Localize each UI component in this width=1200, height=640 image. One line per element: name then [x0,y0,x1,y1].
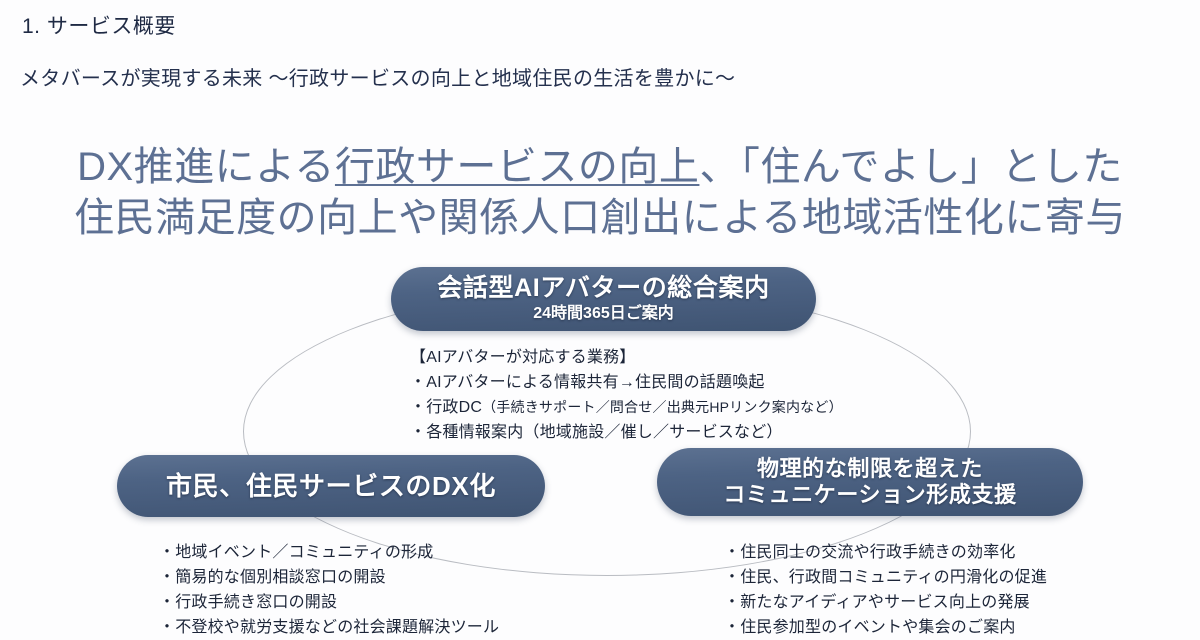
right-list-item-3: ・新たなアイディアやサービス向上の発展 [724,590,1047,615]
node-ai-avatar-guidance[interactable]: 会話型AIアバターの総合案内 24時間365日ご案内 [391,267,816,331]
slide-subtitle: メタバースが実現する未来 ～行政サービスの向上と地域住民の生活を豊かに～ [20,62,735,91]
center-list-item-2: ・行政DC（手続きサポート／問合せ／出典元HPリンク案内など） [410,395,843,420]
left-detail-list: ・地域イベント／コミュニティの形成 ・簡易的な個別相談窓口の開設 ・行政手続き窓… [159,540,499,640]
right-list-item-4: ・住民参加型のイベントや集会のご案内 [724,615,1047,640]
node-citizen-service-dx[interactable]: 市民、住民サービスのDX化 [117,455,545,517]
node-left-title: 市民、住民サービスのDX化 [166,471,496,501]
node-communication-support[interactable]: 物理的な制限を超えた コミュニケーション形成支援 [657,448,1083,516]
center-list-item-3: ・各種情報案内（地域施設／催し／サービスなど） [410,420,843,445]
slide-canvas: 1. サービス概要 メタバースが実現する未来 ～行政サービスの向上と地域住民の生… [0,0,1200,640]
node-top-title: 会話型AIアバターの総合案内 [437,274,769,303]
center-detail-list: 【AIアバターが対応する業務】 ・AIアバターによる情報共有→住民間の話題喚起 … [410,345,843,445]
node-right-title-line-2: コミュニケーション形成支援 [723,482,1016,508]
node-top-subtitle: 24時間365日ご案内 [533,304,674,324]
left-list-item-4: ・不登校や就労支援などの社会課題解決ツール [159,615,499,640]
section-number-title: 1. サービス概要 [22,10,176,40]
left-list-item-1: ・地域イベント／コミュニティの形成 [159,540,499,565]
node-right-title-line-1: 物理的な制限を超えた [757,456,983,482]
right-list-item-2: ・住民、行政間コミュニティの円滑化の促進 [724,565,1047,590]
right-list-item-1: ・住民同士の交流や行政手続きの効率化 [724,540,1047,565]
left-list-item-3: ・行政手続き窓口の開設 [159,590,499,615]
left-list-item-2: ・簡易的な個別相談窓口の開設 [159,565,499,590]
center-list-item-2-detail: （手続きサポート／問合せ／出典元HPリンク案内など） [482,399,843,415]
headline-block: DX推進による行政サービスの向上、「住んでよし」とした 住民満足度の向上や関係人… [0,142,1200,244]
headline-line1-underlined: 行政サービスの向上 [335,145,700,189]
center-list-item-2-main: ・行政DC [410,399,482,416]
right-detail-list: ・住民同士の交流や行政手続きの効率化 ・住民、行政間コミュニティの円滑化の促進 … [724,540,1047,640]
headline-line-2: 住民満足度の向上や関係人口創出による地域活性化に寄与 [0,193,1200,244]
center-list-item-1: ・AIアバターによる情報共有→住民間の話題喚起 [410,370,843,395]
headline-line1-part-a: DX推進による [77,145,335,189]
headline-line-1: DX推進による行政サービスの向上、「住んでよし」とした [0,142,1200,193]
center-list-heading: 【AIアバターが対応する業務】 [410,345,843,370]
headline-line1-part-b: 、「住んでよし」とした [699,145,1123,189]
